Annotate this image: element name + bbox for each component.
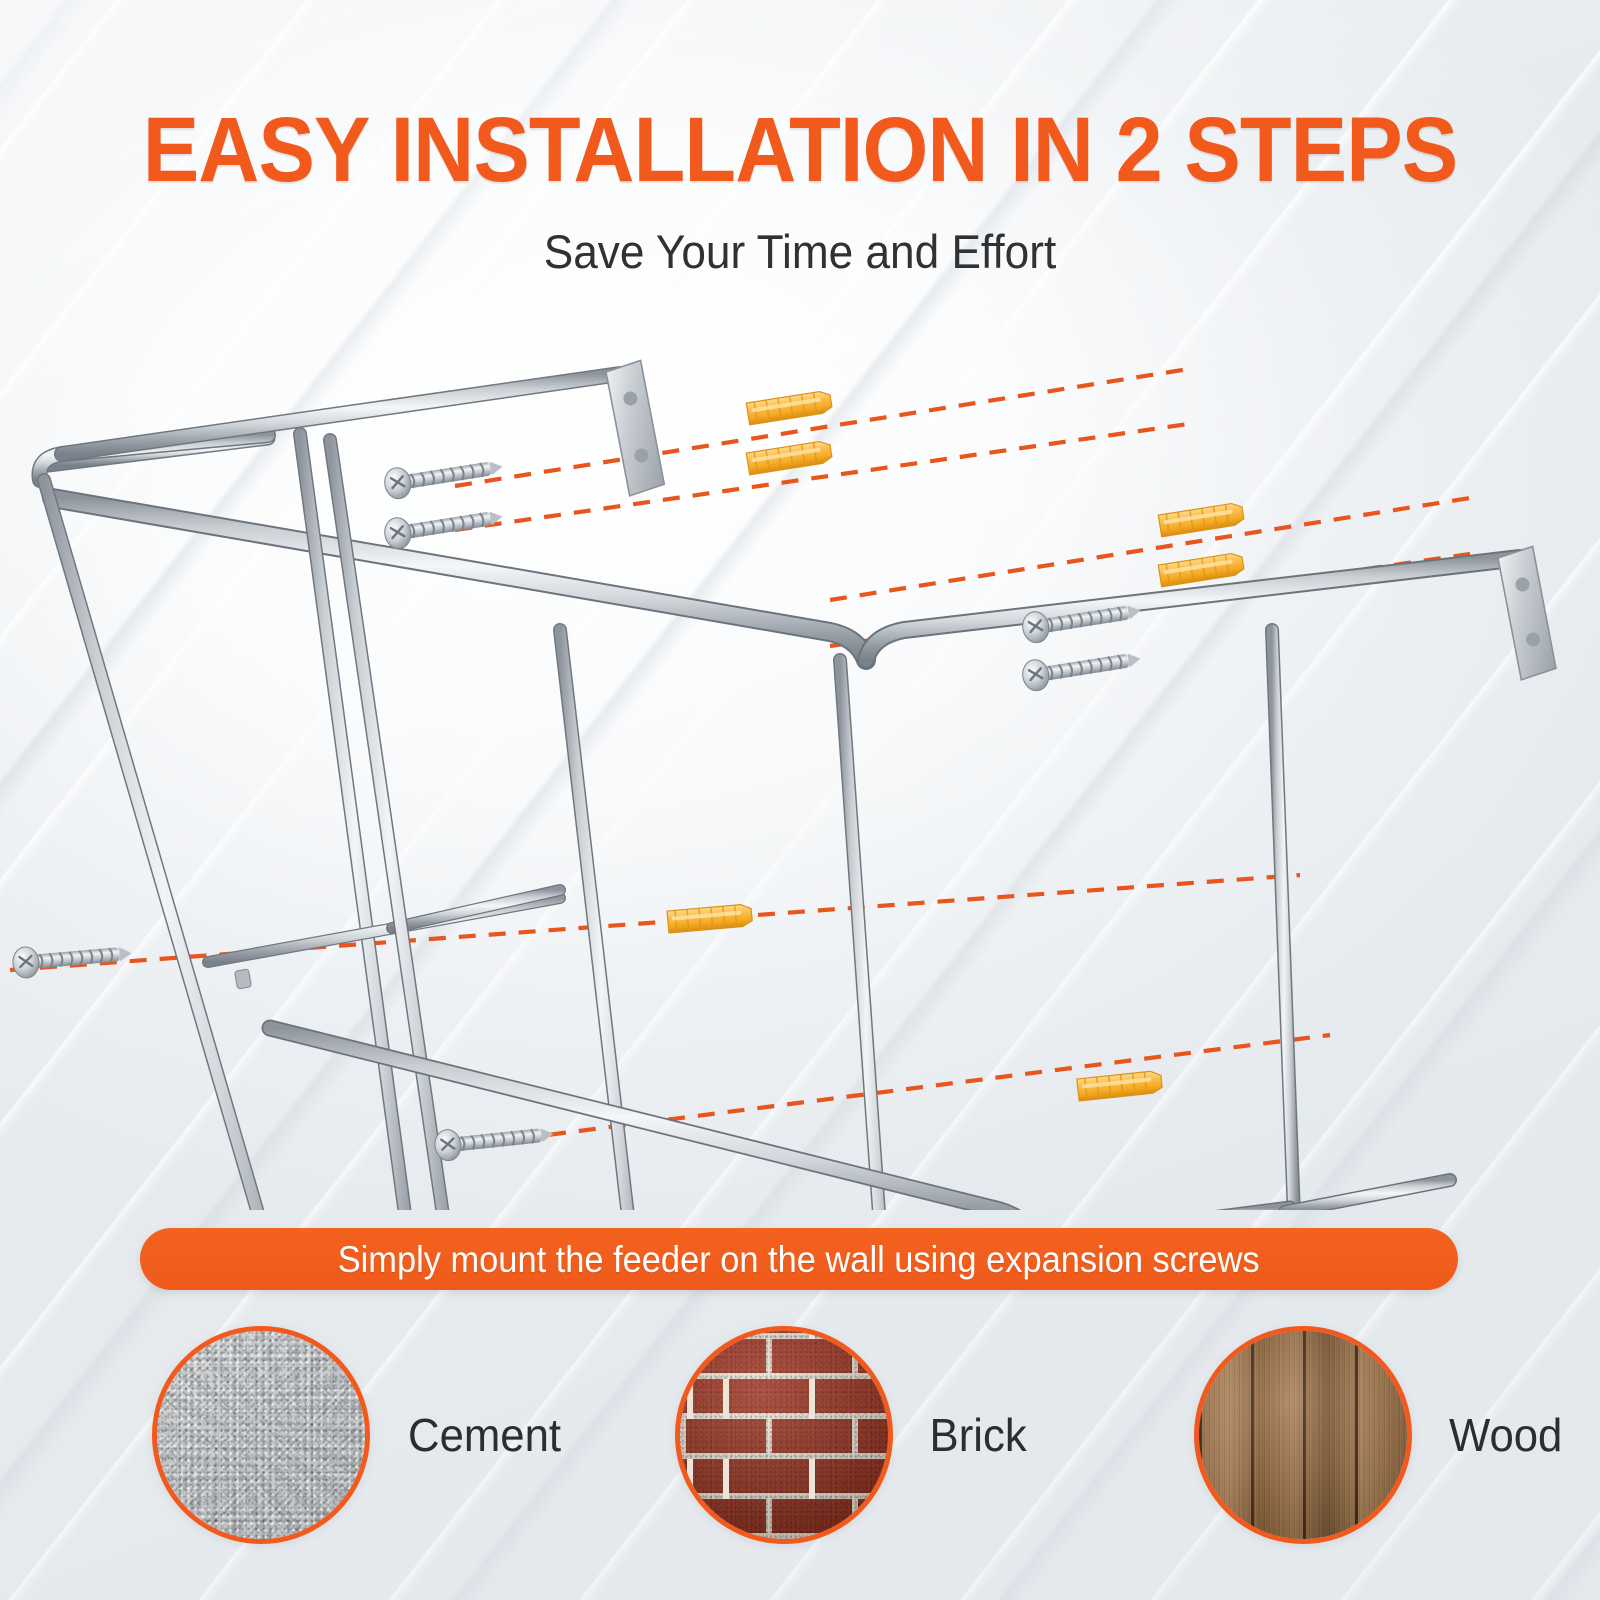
- material-item-brick: Brick: [565, 1310, 1081, 1560]
- feeder-mid-rail: [270, 1028, 1450, 1210]
- feeder-frame: [39, 374, 1520, 1210]
- cement-texture: [157, 1331, 365, 1539]
- wood-texture-swatch: [1194, 1326, 1412, 1544]
- brick-texture-swatch: [675, 1326, 893, 1544]
- infographic-canvas: EASY INSTALLATION IN 2 STEPS Save Your T…: [0, 0, 1600, 1600]
- instruction-banner: Simply mount the feeder on the wall usin…: [140, 1228, 1458, 1290]
- material-label-cement: Cement: [408, 1412, 561, 1458]
- wood-shading-overlay: [1199, 1331, 1407, 1539]
- brick-shading-overlay: [680, 1331, 888, 1539]
- feeder-back-top-bar-left: [62, 374, 620, 454]
- instruction-banner-text: Simply mount the feeder on the wall usin…: [338, 1241, 1260, 1278]
- material-item-wood: Wood: [1082, 1310, 1600, 1560]
- dashed-guide-line-icon: [10, 368, 1470, 1150]
- feeder-vertical-bars: [330, 440, 1300, 1210]
- material-label-wood: Wood: [1449, 1412, 1562, 1458]
- product-illustration-hay-feeder: [0, 330, 1600, 1210]
- material-label-brick: Brick: [930, 1412, 1027, 1458]
- page-title: EASY INSTALLATION IN 2 STEPS: [64, 104, 1536, 196]
- wood-texture: [1199, 1331, 1407, 1539]
- brick-texture: [680, 1331, 888, 1539]
- brick-grain-overlay: [680, 1331, 888, 1539]
- wall-anchor-icon: [667, 390, 1245, 1101]
- compatible-materials-row: Cement Brick Wood: [0, 1310, 1600, 1560]
- cement-texture-swatch: [152, 1326, 370, 1544]
- material-item-cement: Cement: [0, 1310, 565, 1560]
- page-subtitle: Save Your Time and Effort: [48, 228, 1552, 275]
